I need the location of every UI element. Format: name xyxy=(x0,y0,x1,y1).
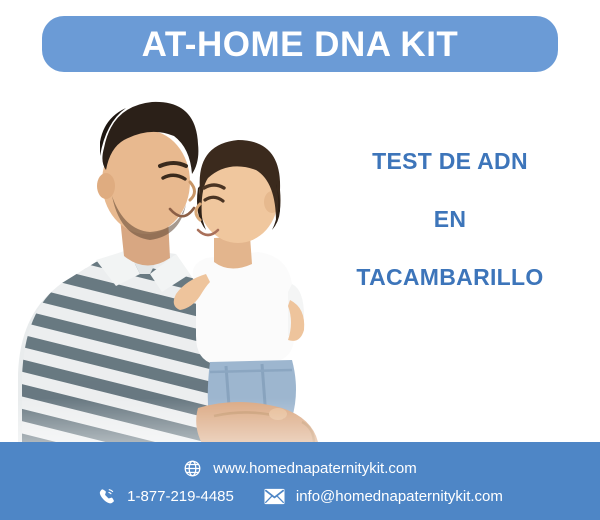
phone-icon xyxy=(97,487,116,506)
father-holding-toddler-photo xyxy=(0,78,340,450)
website-item[interactable]: www.homednapaternitykit.com xyxy=(183,459,416,478)
phone-item[interactable]: 1-877-219-4485 xyxy=(97,487,234,506)
page-title: AT-HOME DNA KIT xyxy=(142,27,459,62)
email-label: info@homednapaternitykit.com xyxy=(296,489,503,504)
envelope-icon xyxy=(264,488,285,505)
footer-website-row: www.homednapaternitykit.com xyxy=(183,459,416,478)
globe-icon xyxy=(183,459,202,478)
photo-illustration xyxy=(0,78,340,450)
phone-label: 1-877-219-4485 xyxy=(127,489,234,504)
headline-line-2: EN xyxy=(320,208,580,231)
footer-contact-bar: www.homednapaternitykit.com 1-877-219-44… xyxy=(0,442,600,520)
website-label: www.homednapaternitykit.com xyxy=(213,461,416,476)
headline-line-1: TEST DE ADN xyxy=(320,150,580,173)
headline-block: TEST DE ADN EN TACAMBARILLO xyxy=(320,150,580,289)
headline-line-3: TACAMBARILLO xyxy=(320,266,580,289)
footer-phone-email-row: 1-877-219-4485 info@homednapaternitykit.… xyxy=(97,487,503,506)
email-item[interactable]: info@homednapaternitykit.com xyxy=(264,488,503,505)
poster-canvas: AT-HOME DNA KIT xyxy=(0,0,600,520)
header-banner: AT-HOME DNA KIT xyxy=(42,16,558,72)
